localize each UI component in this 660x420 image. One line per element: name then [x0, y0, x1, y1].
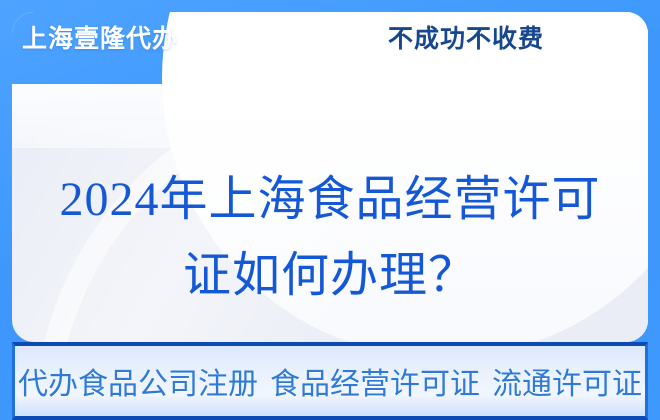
page-title-line-2: 证如何办理？ — [12, 238, 648, 314]
keyword-list: 代办食品公司注册食品经营许可证流通许可证 — [18, 359, 642, 403]
keyword-item-2: 流通许可证 — [492, 368, 642, 401]
keyword-bar: 代办食品公司注册食品经营许可证流通许可证 — [12, 342, 648, 420]
page-title: 2024年上海食品经营许可 证如何办理？ — [12, 162, 648, 314]
poster-canvas: 2024年上海食品经营许可 证如何办理？ 上海壹隆代办 不成功不收费 代办食品公… — [0, 0, 660, 420]
page-title-line-1: 2024年上海食品经营许可 — [59, 173, 600, 226]
keyword-item-0: 代办食品公司注册 — [18, 368, 258, 401]
keyword-item-1: 食品经营许可证 — [270, 368, 480, 401]
content-card: 2024年上海食品经营许可 证如何办理？ — [12, 12, 648, 342]
